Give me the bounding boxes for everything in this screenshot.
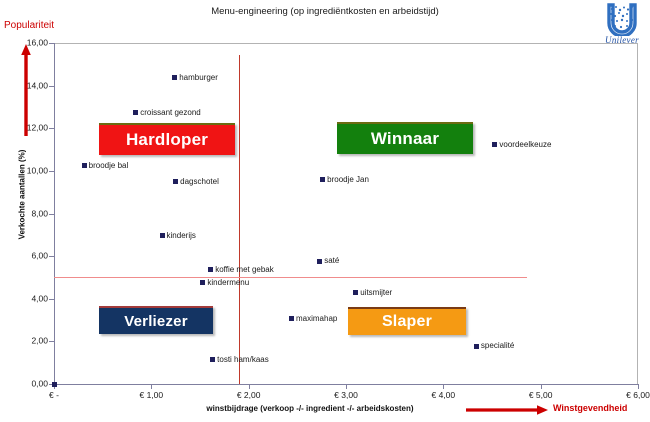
annotation-populariteit: Populariteit xyxy=(4,20,54,31)
data-point-label: voordeelkeuze xyxy=(499,140,551,149)
data-point-marker xyxy=(492,142,497,147)
menu-engineering-chart: Menu-engineering (op ingrediëntkosten en… xyxy=(0,0,650,422)
x-axis-tick-label: € 5,00 xyxy=(529,391,553,400)
data-point-label: kinderijs xyxy=(167,231,196,240)
quadrant-label-winnaar: Winnaar xyxy=(337,122,473,154)
data-point-label: kindermenu xyxy=(207,278,249,287)
y-axis-tick xyxy=(49,43,54,44)
y-axis-tick-label: 4,00 xyxy=(0,294,48,303)
y-axis-tick xyxy=(49,299,54,300)
data-point-marker xyxy=(317,259,322,264)
annotation-winstgevendheid: Winstgevendheid xyxy=(553,403,627,413)
y-axis-tick xyxy=(49,86,54,87)
x-axis-tick-label: € - xyxy=(49,391,59,400)
data-point-label: broodje Jan xyxy=(327,175,369,184)
x-axis-tick xyxy=(346,384,347,389)
right-arrow-icon xyxy=(466,405,548,415)
x-axis-tick xyxy=(249,384,250,389)
x-axis-tick-label: € 4,00 xyxy=(432,391,456,400)
quadrant-label-verliezer: Verliezer xyxy=(99,306,213,334)
data-point-marker xyxy=(173,179,178,184)
x-axis-title: winstbijdrage (verkoop -/- ingredient -/… xyxy=(120,404,500,413)
data-point-marker xyxy=(320,177,325,182)
data-point-label: tosti ham/kaas xyxy=(217,355,269,364)
data-point-label: uitsmijter xyxy=(360,288,392,297)
y-axis-tick xyxy=(49,128,54,129)
y-axis-tick-label: 2,00 xyxy=(0,337,48,346)
data-point-label: broodje bal xyxy=(89,161,129,170)
data-point-marker xyxy=(200,280,205,285)
data-point-marker xyxy=(160,233,165,238)
y-axis-tick xyxy=(49,214,54,215)
x-axis-tick-label: € 3,00 xyxy=(334,391,358,400)
quadrant-label-slaper: Slaper xyxy=(348,307,466,335)
x-axis-tick-label: € 1,00 xyxy=(140,391,164,400)
data-point-label: croissant gezond xyxy=(140,108,200,117)
data-point-label: specialité xyxy=(481,341,514,350)
unilever-logo: Unilever xyxy=(598,2,646,48)
data-point-marker xyxy=(82,163,87,168)
up-arrow-icon xyxy=(21,44,31,136)
data-point-label: koffie met gebak xyxy=(215,265,274,274)
x-axis-tick xyxy=(443,384,444,389)
quadrant-divider-horizontal xyxy=(54,277,527,278)
data-point-marker xyxy=(208,267,213,272)
y-axis-tick xyxy=(49,341,54,342)
origin-marker-dot xyxy=(52,382,57,387)
data-point-label: saté xyxy=(324,256,339,265)
data-point-marker xyxy=(210,357,215,362)
data-point-marker xyxy=(289,316,294,321)
data-point-label: hamburger xyxy=(179,73,218,82)
quadrant-label-hardloper: Hardloper xyxy=(99,123,235,155)
x-axis-tick xyxy=(151,384,152,389)
x-axis-tick xyxy=(638,384,639,389)
y-axis-tick xyxy=(49,171,54,172)
y-axis-title: Verkochte aantallen (%) xyxy=(18,125,27,265)
data-point-marker xyxy=(474,344,479,349)
y-axis-line xyxy=(54,43,55,384)
x-axis-tick xyxy=(541,384,542,389)
y-axis-tick xyxy=(49,256,54,257)
unilever-u-icon xyxy=(598,2,646,36)
data-point-marker xyxy=(172,75,177,80)
data-point-marker xyxy=(133,110,138,115)
y-axis-tick-label: 0,00 xyxy=(0,380,48,389)
chart-title: Menu-engineering (op ingrediëntkosten en… xyxy=(0,6,650,17)
data-point-marker xyxy=(353,290,358,295)
quadrant-divider-vertical xyxy=(239,55,240,384)
x-axis-tick-label: € 6,00 xyxy=(626,391,650,400)
x-axis-tick-label: € 2,00 xyxy=(237,391,261,400)
data-point-label: maximahap xyxy=(296,314,337,323)
data-point-label: dagschotel xyxy=(180,177,219,186)
